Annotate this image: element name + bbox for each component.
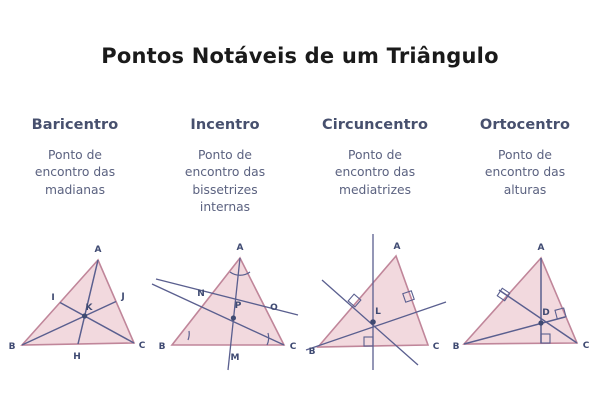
concept-description-ortocentro: Ponto de encontro das alturas xyxy=(454,147,596,199)
concepts-row: Baricentro Ponto de encontro das madiana… xyxy=(0,118,600,228)
concept-description-incentro: Ponto de encontro das bissetrizes intern… xyxy=(154,147,296,217)
orthocenter-point xyxy=(538,320,543,325)
vertex-label-a: A xyxy=(394,242,401,252)
circumcenter-point xyxy=(370,319,376,325)
desc-line: alturas xyxy=(454,182,596,199)
ortocentro-figure: A B C D xyxy=(450,232,600,372)
midpoint-label-j: J xyxy=(120,292,124,302)
concept-column-ortocentro: Ortocentro Ponto de encontro das alturas xyxy=(450,118,600,228)
vertex-label-c: C xyxy=(139,341,146,351)
vertex-label-b: B xyxy=(159,342,166,352)
centroid-point xyxy=(82,313,87,318)
point-label-m: M xyxy=(231,353,240,363)
figures-row: A B C I J K H A xyxy=(0,232,600,372)
midpoint-label-h: H xyxy=(73,352,81,362)
concept-heading-baricentro: Baricentro xyxy=(4,118,146,134)
centroid-label-k: K xyxy=(86,303,94,313)
concept-heading-circuncentro: Circuncentro xyxy=(304,118,446,134)
concept-column-circuncentro: Circuncentro Ponto de encontro das media… xyxy=(300,118,450,228)
vertex-label-c: C xyxy=(290,342,297,352)
poster-root: Pontos Notáveis de um Triângulo Baricent… xyxy=(0,0,600,400)
desc-line: Ponto de xyxy=(4,147,146,164)
vertex-label-a: A xyxy=(237,243,244,253)
circuncentro-figure: A B C L xyxy=(300,232,450,372)
vertex-label-a: A xyxy=(95,245,102,255)
vertex-label-a: A xyxy=(538,243,545,253)
vertex-label-b: B xyxy=(453,342,460,352)
desc-line: encontro das xyxy=(154,164,296,181)
point-label-n: N xyxy=(197,289,205,299)
orthocenter-label-d: D xyxy=(542,308,549,318)
desc-line: encontro das xyxy=(4,164,146,181)
vertex-label-b: B xyxy=(309,347,316,357)
desc-line: Ponto de xyxy=(304,147,446,164)
triangle-shape xyxy=(22,260,134,345)
concept-description-circuncentro: Ponto de encontro das mediatrizes xyxy=(304,147,446,199)
desc-line: madianas xyxy=(4,182,146,199)
desc-line: encontro das xyxy=(454,164,596,181)
concept-column-incentro: Incentro Ponto de encontro das bissetriz… xyxy=(150,118,300,228)
point-label-o: O xyxy=(270,303,278,313)
vertex-label-c: C xyxy=(583,341,590,351)
desc-line: internas xyxy=(154,199,296,216)
concept-heading-incentro: Incentro xyxy=(154,118,296,134)
midpoint-label-i: I xyxy=(51,293,54,303)
vertex-label-b: B xyxy=(9,342,16,352)
concept-heading-ortocentro: Ortocentro xyxy=(454,118,596,134)
concept-column-baricentro: Baricentro Ponto de encontro das madiana… xyxy=(0,118,150,228)
page-title: Pontos Notáveis de um Triângulo xyxy=(0,44,600,68)
incenter-label-p: P xyxy=(235,301,242,311)
desc-line: Ponto de xyxy=(454,147,596,164)
desc-line: Ponto de xyxy=(154,147,296,164)
concept-description-baricentro: Ponto de encontro das madianas xyxy=(4,147,146,199)
vertex-label-c: C xyxy=(433,342,440,352)
baricentro-figure: A B C I J K H xyxy=(0,232,150,372)
desc-line: encontro das xyxy=(304,164,446,181)
circumcenter-label-l: L xyxy=(375,307,381,317)
incentro-figure: A B C N O P M xyxy=(150,232,300,372)
incenter-point xyxy=(231,315,236,320)
desc-line: mediatrizes xyxy=(304,182,446,199)
desc-line: bissetrizes xyxy=(154,182,296,199)
